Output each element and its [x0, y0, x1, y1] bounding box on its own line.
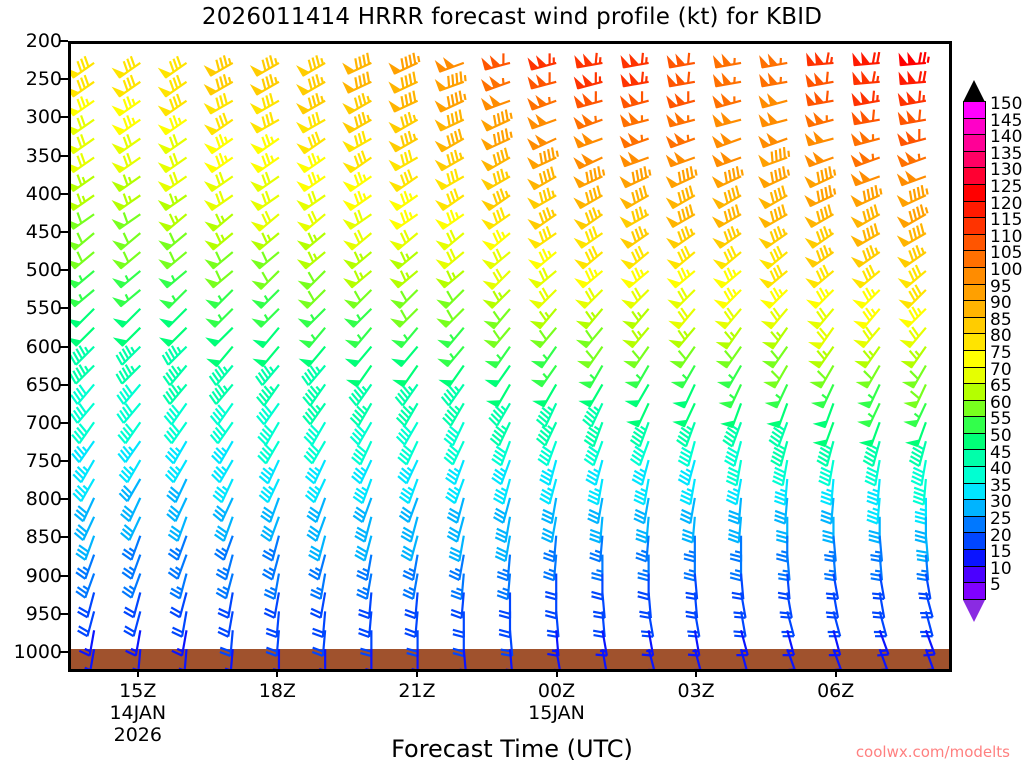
wind-barb [492, 441, 510, 465]
wind-barb [482, 169, 510, 189]
wind-barb [765, 366, 787, 388]
wind-barb [114, 271, 141, 288]
wind-barb [760, 246, 787, 268]
wind-barb [713, 205, 741, 228]
wind-barb [806, 132, 834, 145]
y-axis-tick-label: 650 [0, 374, 62, 396]
wind-barb [205, 93, 233, 113]
wind-barb [436, 129, 464, 152]
wind-barb [71, 346, 94, 365]
wind-barb [668, 53, 695, 68]
wind-barb [119, 460, 140, 482]
wind-barb [807, 288, 833, 308]
wind-barb [669, 288, 695, 308]
colorbar-cell [963, 532, 986, 550]
wind-barb [344, 112, 372, 132]
wind-barb [437, 230, 464, 250]
wind-barb [899, 91, 926, 106]
wind-barb [714, 55, 741, 67]
wind-barb [306, 460, 326, 483]
wind-barb [577, 328, 602, 348]
wind-barb [298, 132, 325, 153]
wind-barb [714, 268, 741, 288]
colorbar-cell [963, 300, 986, 318]
wind-barb [346, 347, 371, 367]
colorbar-cell [963, 383, 986, 401]
wind-barb [484, 269, 510, 289]
wind-barb [713, 95, 741, 108]
wind-barb [690, 649, 701, 669]
wind-barb [73, 460, 94, 482]
wind-barb [71, 384, 94, 404]
wind-barb [668, 72, 695, 87]
wind-barb [350, 422, 371, 444]
wind-barb [114, 290, 141, 307]
wind-barb [902, 347, 926, 368]
wind-barb [397, 403, 418, 425]
y-axis-tick-label: 800 [0, 488, 62, 510]
wind-barb [304, 422, 325, 444]
colorbar-cell [963, 566, 986, 584]
wind-barb [540, 479, 556, 504]
wind-barb [304, 441, 325, 463]
x-tick-time: 18Z [259, 680, 296, 702]
wind-barb [344, 131, 372, 151]
wind-barb [672, 366, 694, 388]
wind-barb [806, 72, 833, 87]
wind-barb [344, 93, 372, 113]
wind-speed-colorbar[interactable] [963, 102, 986, 600]
wind-barb [575, 226, 602, 247]
wind-barb [577, 309, 602, 329]
wind-barb [671, 347, 695, 368]
wind-barb [300, 328, 325, 348]
wind-barb [113, 194, 140, 210]
wind-barb [206, 252, 233, 269]
wind-barb [303, 403, 325, 424]
wind-barb [855, 327, 880, 347]
colorbar-cell [963, 333, 986, 351]
wind-barb [444, 422, 464, 445]
wind-barb [759, 114, 787, 127]
x-tick-time: 21Z [398, 680, 435, 702]
colorbar-cell [963, 433, 986, 451]
wind-barb [811, 366, 833, 388]
wind-barb [251, 55, 279, 75]
wind-barb [899, 71, 926, 84]
wind-barb [211, 403, 233, 424]
wind-barb [164, 403, 186, 424]
colorbar-cell [963, 250, 986, 268]
wind-barb [390, 170, 417, 191]
wind-barb [528, 167, 556, 190]
x-axis-tick-label: 18Z [259, 680, 296, 702]
wind-barb [256, 366, 279, 386]
wind-barb [579, 347, 603, 368]
wind-barb [344, 151, 371, 172]
wind-barb [117, 384, 140, 404]
wind-barb [391, 230, 418, 250]
wind-barb [71, 115, 94, 134]
wind-barb [537, 403, 557, 426]
wind-barb [343, 72, 371, 93]
wind-barb [436, 189, 463, 210]
wind-barb [622, 246, 649, 268]
wind-barb [299, 309, 325, 327]
y-axis-tick-label: 200 [0, 30, 62, 52]
wind-barb [667, 134, 695, 147]
wind-barb [529, 226, 556, 247]
wind-barb [205, 113, 232, 134]
y-axis-tick-mark [60, 575, 68, 577]
wind-barb [251, 74, 279, 94]
wind-barb [482, 77, 510, 90]
wind-barb [121, 498, 141, 521]
wind-barb [501, 649, 512, 669]
wind-barb [344, 191, 371, 210]
wind-barb [857, 366, 879, 388]
wind-barb [574, 115, 602, 128]
wind-barb [626, 366, 648, 388]
wind-barb [667, 226, 694, 247]
wind-barb [628, 403, 649, 426]
wind-barb [208, 347, 233, 367]
wind-barb [78, 611, 94, 636]
wind-barb [826, 592, 838, 617]
colorbar-cell [963, 350, 986, 368]
y-axis-tick-mark [60, 613, 68, 615]
wind-barb [113, 153, 140, 172]
wind-barb [71, 134, 94, 153]
wind-barb [122, 536, 140, 560]
wind-barb [298, 191, 325, 210]
wind-barb [71, 75, 94, 96]
wind-barb [494, 498, 510, 523]
wind-barb [831, 649, 842, 669]
wind-barb [251, 93, 279, 113]
colorbar-cell [963, 118, 986, 136]
wind-barb [205, 134, 232, 153]
wind-barb [442, 384, 464, 405]
wind-barb [532, 366, 556, 387]
wind-barb [436, 210, 463, 229]
wind-barb [436, 169, 464, 189]
y-axis-tick-mark [60, 536, 68, 538]
wind-barb [856, 347, 880, 368]
wind-barb [807, 265, 834, 287]
wind-barb [393, 328, 418, 348]
wind-barb [390, 91, 418, 112]
wind-barb [390, 191, 417, 210]
wind-barb [390, 112, 418, 132]
wind-barb [764, 328, 788, 349]
wind-barb [531, 309, 556, 329]
wind-barb [852, 172, 880, 185]
wind-barb [160, 233, 187, 250]
wind-barb [760, 265, 787, 287]
wind-barb [71, 194, 94, 210]
wind-barb [71, 309, 94, 327]
wind-barb [355, 536, 371, 561]
wind-barb [621, 226, 648, 247]
wind-barb [575, 91, 603, 107]
wind-barb [113, 134, 140, 153]
wind-barb [392, 309, 418, 327]
x-axis-tick-mark [556, 669, 558, 677]
wind-barb [352, 441, 372, 464]
wind-barb [116, 365, 140, 384]
wind-barb [900, 285, 926, 308]
wind-barb [714, 246, 741, 268]
wind-barb [898, 129, 926, 145]
wind-barb [71, 290, 94, 307]
wind-barb [345, 290, 371, 308]
colorbar-cell [963, 201, 986, 219]
wind-barb [392, 290, 418, 308]
wind-barb [852, 91, 879, 106]
wind-barb [113, 97, 140, 116]
wind-barb [297, 112, 325, 132]
wind-barb [486, 366, 510, 387]
wind-barb [529, 268, 556, 288]
wind-barb [854, 288, 880, 308]
wind-barb [623, 288, 649, 308]
colorbar-tick-label: 5 [990, 575, 1001, 595]
wind-barb [667, 114, 695, 127]
wind-barb [678, 460, 694, 485]
wind-barb [114, 252, 141, 269]
y-axis-tick-mark [60, 155, 68, 157]
wind-barb [853, 52, 880, 65]
wind-barb [167, 479, 187, 502]
x-axis-tick-label: 00Z15JAN [528, 680, 585, 724]
wind-barb [297, 55, 325, 75]
wind-barb [257, 384, 279, 405]
wind-barb [113, 115, 140, 134]
wind-barb [298, 172, 325, 191]
wind-barb [490, 422, 510, 445]
wind-barb [807, 52, 834, 65]
wind-barb [644, 649, 655, 669]
wind-barb [670, 328, 695, 348]
wind-barb [345, 252, 372, 269]
wind-barb [899, 110, 926, 125]
wind-barb [714, 74, 741, 86]
wind-barb [345, 309, 371, 327]
x-axis-tick-label: 06Z [817, 680, 854, 702]
wind-barb [390, 53, 420, 74]
wind-barb [168, 517, 186, 541]
wind-barb [806, 91, 833, 106]
colorbar-cell [963, 217, 986, 235]
wind-barb [576, 246, 603, 268]
wind-barb [401, 536, 417, 561]
wind-barb [584, 422, 602, 446]
wind-barb [254, 328, 279, 348]
wind-barb [667, 205, 695, 228]
wind-barb [714, 226, 741, 247]
wind-barb [621, 166, 651, 187]
wind-barb [253, 290, 279, 308]
wind-barb [297, 74, 325, 94]
colorbar-cell [963, 101, 986, 119]
wind-barb [253, 271, 279, 289]
wind-barb [538, 441, 556, 465]
wind-barb [205, 191, 232, 210]
wind-barb [580, 366, 602, 388]
colorbar-cell [963, 367, 986, 385]
wind-barb [397, 422, 418, 444]
wind-barb-layer [71, 44, 949, 669]
colorbar-cell [963, 134, 986, 152]
x-axis-tick-label: 21Z [398, 680, 435, 702]
wind-barb [163, 366, 186, 386]
wind-barb [898, 205, 927, 228]
wind-barb [529, 249, 556, 269]
wind-barb [759, 95, 787, 108]
wind-barb [575, 72, 603, 88]
wind-barb [766, 384, 787, 407]
wind-barb [528, 188, 556, 208]
wind-barb [159, 94, 186, 115]
wind-barb [621, 114, 649, 127]
y-axis-tick-label: 900 [0, 565, 62, 587]
wind-barb [399, 479, 417, 503]
wind-barb [667, 153, 695, 166]
x-tick-date: 15JAN [528, 702, 585, 724]
wind-barb [583, 403, 603, 426]
wind-barb [488, 384, 510, 406]
wind-barb [806, 114, 834, 127]
wind-barb [116, 346, 140, 365]
wind-barb [531, 328, 556, 348]
wind-barb [899, 265, 926, 287]
y-axis-tick-label: 850 [0, 526, 62, 548]
wind-barb [674, 384, 695, 407]
x-axis-tick-mark [835, 669, 837, 677]
wind-barb [853, 71, 880, 84]
x-axis-tick-mark [276, 669, 278, 677]
wind-barb [436, 71, 466, 90]
wind-barb [252, 153, 279, 172]
wind-barb [484, 290, 510, 308]
wind-barb [631, 422, 649, 446]
wind-barb [298, 233, 325, 250]
wind-barb [163, 346, 187, 365]
wind-barb [252, 172, 279, 191]
wind-barb [159, 75, 186, 96]
wind-barb [159, 115, 186, 134]
wind-barb [482, 53, 510, 69]
x-tick-time: 15Z [119, 680, 156, 702]
wind-barb [73, 479, 94, 501]
wind-barb [575, 53, 602, 68]
wind-barb [713, 166, 743, 187]
wind-barb [482, 110, 512, 131]
wind-barb [300, 347, 325, 367]
y-axis-tick-mark [60, 346, 68, 348]
wind-barb [439, 347, 464, 367]
wind-barb [71, 365, 94, 384]
x-tick-time: 03Z [677, 680, 714, 702]
wind-barb [71, 97, 94, 116]
wind-barb [113, 56, 140, 77]
wind-barb [688, 630, 699, 655]
wind-barb [483, 208, 510, 229]
wind-barb [160, 214, 187, 231]
wind-barb [528, 115, 556, 128]
y-axis-tick-mark [60, 307, 68, 309]
wind-barb [528, 147, 558, 168]
wind-barb [760, 226, 787, 247]
wind-barb [621, 72, 648, 87]
wind-barb [667, 91, 695, 107]
wind-barb [216, 574, 232, 599]
wind-barb [439, 328, 464, 348]
wind-barb [440, 366, 464, 387]
wind-barb [575, 186, 603, 209]
wind-barb [437, 249, 464, 269]
x-tick-time: 06Z [817, 680, 854, 702]
wind-barb [160, 271, 187, 288]
wind-barb [482, 148, 510, 171]
wind-barb [299, 290, 325, 308]
wind-barb [904, 366, 926, 388]
wind-barb [353, 479, 371, 503]
wind-barb [205, 153, 232, 172]
y-axis-tick-mark [60, 116, 68, 118]
wind-barb [805, 185, 835, 206]
wind-barb [71, 175, 94, 191]
wind-barb [574, 166, 604, 187]
y-axis-tick-mark [60, 231, 68, 233]
y-axis-tick-mark [60, 78, 68, 80]
wind-barb [344, 210, 371, 229]
wind-barb [113, 175, 140, 191]
wind-barb [762, 308, 787, 328]
wind-barb [576, 268, 603, 288]
wind-barb [580, 384, 602, 406]
wind-barb [71, 328, 94, 346]
wind-barb [71, 271, 94, 288]
wind-barb [114, 233, 141, 250]
wind-barb [117, 403, 140, 423]
wind-barb [213, 479, 233, 502]
y-axis-tick-mark [60, 460, 68, 462]
wind-barb [483, 230, 510, 250]
wind-barb [391, 271, 418, 288]
wind-barb [345, 271, 372, 288]
wind-barb [806, 205, 834, 228]
page-title: 2026011414 HRRR forecast wind profile (k… [0, 4, 1024, 30]
wind-barb [309, 555, 325, 580]
y-axis-tick-mark [60, 384, 68, 386]
credit-watermark: coolwx.com/modelts [0, 743, 1010, 761]
wind-barb [161, 290, 187, 308]
wind-barb [852, 245, 879, 266]
wind-barb [298, 153, 325, 172]
wind-barb [390, 131, 418, 151]
wind-barb [159, 153, 186, 172]
wind-barb [252, 191, 279, 210]
wind-barb [71, 56, 94, 77]
wind-barb [785, 649, 796, 669]
y-axis-tick-mark [60, 269, 68, 271]
wind-barb [212, 441, 233, 463]
wind-barb [813, 384, 834, 407]
y-axis-tick-label: 300 [0, 106, 62, 128]
wind-barb [344, 172, 371, 191]
